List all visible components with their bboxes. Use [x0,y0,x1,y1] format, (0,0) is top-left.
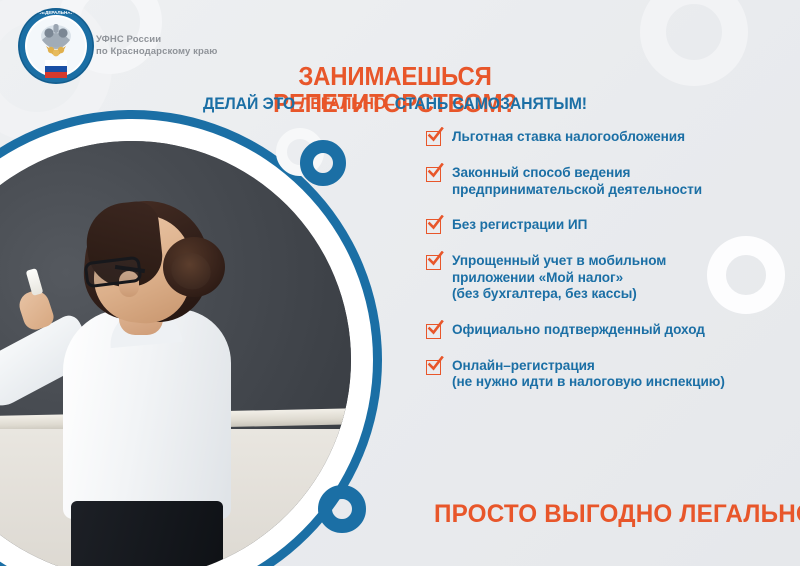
benefits-list: Льготная ставка налогообложения Законный… [426,129,792,410]
page-subtitle: ДЕЛАЙ ЭТО ЛЕГАЛЬНО–СТАНЬ САМОЗАНЯТЫМ! [176,94,613,114]
list-item-label: Официально подтвержденный доход [452,322,705,339]
list-item: Законный способ веденияпредпринимательск… [426,165,792,198]
ring-blue-pair [300,140,346,186]
checkbox-checked-icon [426,219,441,234]
subtitle-part-2: СТАНЬ САМОЗАНЯТЫМ! [395,94,587,113]
list-item-text: Упрощенный учет в мобильном [452,253,666,268]
russian-federal-tax-service-emblem: ФЕДЕРАЛЬНАЯ [12,6,100,90]
list-item-label: Упрощенный учет в мобильномприложении «М… [452,253,666,303]
list-item: Упрощенный учет в мобильномприложении «М… [426,253,792,303]
teacher-figure [0,141,351,566]
list-item-text: Онлайн–регистрация [452,358,595,373]
list-item: Онлайн–регистрация(не нужно идти в налог… [426,358,792,391]
list-item: Льготная ставка налогообложения [426,129,792,146]
subtitle-highlight: ЛЕГАЛЬНО– [299,94,394,113]
checkbox-checked-icon [426,360,441,375]
teacher-at-blackboard-photo [0,141,351,566]
footer-slogan: ПРОСТО ВЫГОДНО ЛЕГАЛЬНО [434,500,800,529]
list-item-text: Без регистрации ИП [452,217,587,232]
photo-white-ring [0,119,373,566]
list-item-text: Льготная ставка налогообложения [452,129,685,144]
ring-blue-bottom [318,485,366,533]
list-item-subtext: (не нужно идти в налоговую инспекцию) [452,374,725,391]
checkbox-checked-icon [426,324,441,339]
poster-canvas: ФЕДЕРАЛЬНАЯ УФНС Россиипо [0,0,800,566]
list-item-label: Льготная ставка налогообложения [452,129,685,146]
list-item-text: Законный способ ведения [452,165,630,180]
list-item-label: Онлайн–регистрация(не нужно идти в налог… [452,358,725,391]
list-item-subtext: предпринимательской деятельности [452,182,702,199]
checkbox-checked-icon [426,167,441,182]
list-item: Официально подтвержденный доход [426,322,792,339]
list-item-label: Без регистрации ИП [452,217,587,234]
checkbox-checked-icon [426,255,441,270]
subtitle-part-1: ДЕЛАЙ ЭТО [203,94,299,113]
list-item-subtext: приложении «Мой налог» (без бухгалтера, … [452,270,666,303]
department-line-2: по Краснодарскому краю [96,46,217,57]
department-name: УФНС Россиипо Краснодарскому краю [96,34,217,58]
ring-white-top-right [640,0,748,86]
list-item-text: Официально подтвержденный доход [452,322,705,337]
department-line-1: УФНС России [96,34,161,45]
checkbox-checked-icon [426,131,441,146]
teacher-skirt [71,501,223,566]
list-item: Без регистрации ИП [426,217,792,234]
list-item-label: Законный способ веденияпредпринимательск… [452,165,702,198]
